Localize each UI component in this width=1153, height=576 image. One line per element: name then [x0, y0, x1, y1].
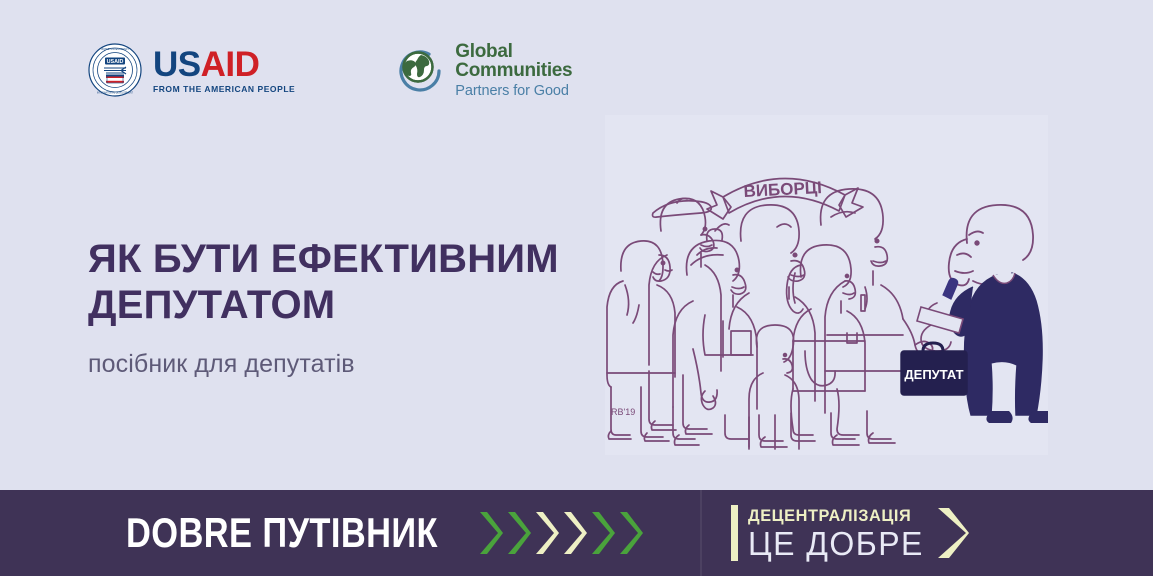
dobre-guide-label: DOBRE ПУТІВНИК	[126, 509, 438, 557]
banner-text: ВИБОРЦІ	[743, 178, 822, 201]
chevron-right-icon	[590, 510, 616, 556]
decentralization-brand: ДЕЦЕНТРАЛІЗАЦІЯ ЦЕ ДОБРЕ	[731, 505, 971, 561]
accent-bar	[731, 505, 738, 561]
logo-row: USAID UNITED STATES AGENCY INTERNATIONAL…	[88, 42, 572, 99]
usaid-seal-icon: USAID UNITED STATES AGENCY INTERNATIONAL…	[88, 43, 142, 97]
gc-tagline: Partners for Good	[455, 84, 572, 99]
decentralization-line-2: ЦЕ ДОБРЕ	[748, 527, 924, 560]
svg-text:INTERNATIONAL DEVELOPMENT: INTERNATIONAL DEVELOPMENT	[97, 92, 134, 95]
decentralization-line-1: ДЕЦЕНТРАЛІЗАЦІЯ	[748, 507, 922, 524]
decentralization-wordmark: ДЕЦЕНТРАЛІЗАЦІЯ ЦЕ ДОБРЕ	[748, 507, 929, 560]
bottom-banner: DOBRE ПУТІВНИК ДЕЦЕНТРАЛІЗАЦІЯ ЦЕ ДОБРЕ	[0, 490, 1153, 576]
signature: RB'19	[611, 407, 635, 417]
illustration-panel: ВИБОРЦІ RB'19	[605, 115, 1048, 455]
chevron-group	[478, 510, 644, 556]
usaid-logo: USAID UNITED STATES AGENCY INTERNATIONAL…	[88, 43, 295, 97]
page-title: ЯК БУТИ ЕФЕКТИВНИМ ДЕПУТАТОМ	[88, 236, 608, 329]
global-communities-wordmark: Global Communities Partners for Good	[455, 42, 572, 99]
chevron-right-icon	[618, 510, 644, 556]
chevron-right-icon	[562, 510, 588, 556]
page-subtitle: посібник для депутатів	[88, 350, 355, 379]
svg-text:UNITED STATES AGENCY: UNITED STATES AGENCY	[101, 48, 129, 51]
chevron-right-icon	[506, 510, 532, 556]
globe-icon	[395, 45, 445, 95]
usaid-word-us: US	[153, 45, 201, 84]
gc-line-1: Global	[455, 42, 572, 61]
chevron-right-icon	[478, 510, 504, 556]
page-root: USAID UNITED STATES AGENCY INTERNATIONAL…	[0, 0, 1153, 576]
chevron-right-icon	[534, 510, 560, 556]
gc-line-2: Communities	[455, 61, 572, 80]
global-communities-logo: Global Communities Partners for Good	[395, 42, 572, 99]
svg-text:USAID: USAID	[107, 59, 124, 65]
arrow-right-icon	[935, 505, 971, 561]
briefcase-label: ДЕПУТАТ	[904, 367, 963, 382]
banner-divider	[700, 490, 702, 576]
usaid-wordmark: USAID FROM THE AMERICAN PEOPLE	[153, 47, 295, 94]
usaid-tagline: FROM THE AMERICAN PEOPLE	[153, 85, 295, 94]
usaid-word-aid: AID	[201, 45, 260, 84]
dobre-guide-brand: DOBRE ПУТІВНИК	[126, 509, 644, 557]
